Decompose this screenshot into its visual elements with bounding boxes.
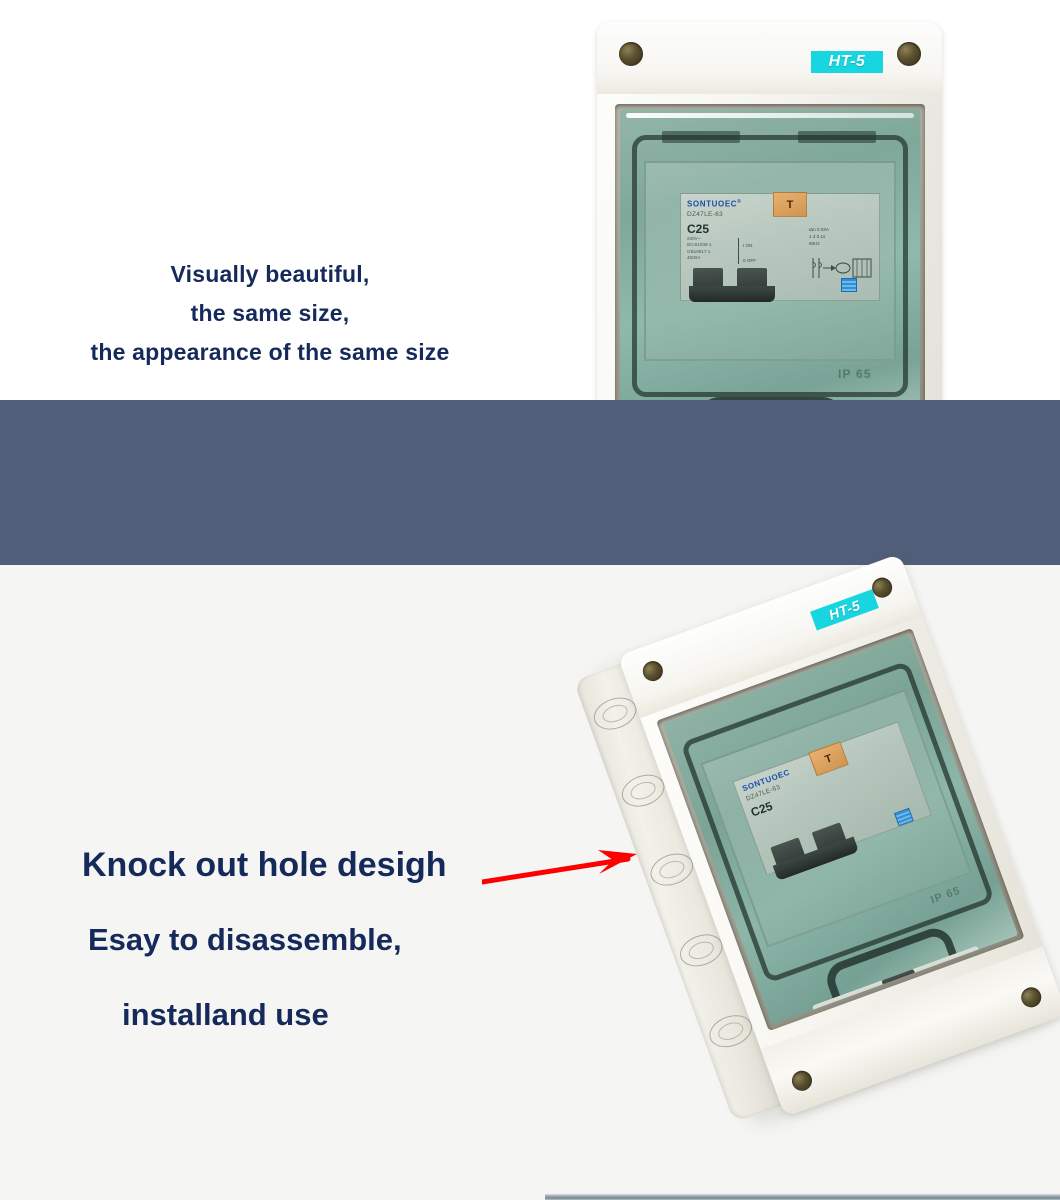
aux-spec-text: 1 4 0.1s	[809, 234, 825, 239]
caption-bottom-line-1: Knock out hole desigh	[82, 848, 580, 882]
caption-bottom-line-3: installand use	[122, 999, 580, 1030]
registered-mark-icon: ®	[737, 199, 741, 205]
next-image-preview-sliver	[0, 1185, 1060, 1200]
breaker-brand-text: SONTUOEC	[687, 200, 737, 209]
breaker-model: DZ47LE-63	[687, 211, 723, 218]
breaker-off-label: 0 OFF	[743, 258, 756, 263]
breaker-rating: C25	[687, 222, 709, 236]
breaker-on-off-labels: I ON 0 OFF	[743, 238, 756, 268]
breaker-on-label: I ON	[743, 243, 752, 248]
circuit-breaker: SONTUOEC® DZ47LE-63 C25 230V~ IEC61009-1…	[680, 193, 880, 301]
test-button[interactable]: T	[773, 192, 807, 217]
enclosure-top-strip	[597, 22, 942, 94]
feature-caption-top: Visually beautiful, the same size, the a…	[0, 255, 540, 372]
breaker-rating-angled: C25	[749, 799, 774, 820]
model-label-ht5: HT-5	[811, 51, 883, 73]
product-detail-page: Visually beautiful, the same size, the a…	[0, 0, 1060, 1200]
residual-current-text: I∆n 0.03A	[809, 227, 829, 232]
door-highlight	[626, 113, 914, 118]
enclosure-recess-frame: SONTUOEC® DZ47LE-63 C25 230V~ IEC61009-1…	[615, 104, 925, 434]
frequency-text: 50Hz	[809, 241, 820, 246]
breaker-blue-marker	[841, 278, 857, 292]
next-image-edge	[545, 1193, 1060, 1200]
caption-line-3: the appearance of the same size	[0, 333, 540, 372]
ip-rating-label: IP 65	[838, 367, 872, 381]
caption-line-2: the same size,	[0, 294, 540, 333]
screw-hole-top-right	[897, 42, 921, 66]
breaker-residual-spec: I∆n 0.03A 1 4 0.1s 50Hz	[809, 226, 875, 247]
breaker-brand: SONTUOEC®	[687, 199, 741, 209]
transparent-door: SONTUOEC® DZ47LE-63 C25 230V~ IEC61009-1…	[620, 109, 920, 429]
breaker-direction-arrow-icon	[738, 238, 739, 264]
feature-caption-bottom: Knock out hole desigh Esay to disassembl…	[60, 848, 580, 1030]
screw-hole-top-left	[619, 42, 643, 66]
caption-line-1: Visually beautiful,	[0, 255, 540, 294]
breaker-voltage-text: 230V~	[687, 236, 700, 241]
breaker-tie-bar[interactable]	[689, 286, 775, 302]
section-visual-design: Visually beautiful, the same size, the a…	[0, 0, 1060, 400]
caption-bottom-line-2: Esay to disassemble,	[88, 924, 580, 955]
